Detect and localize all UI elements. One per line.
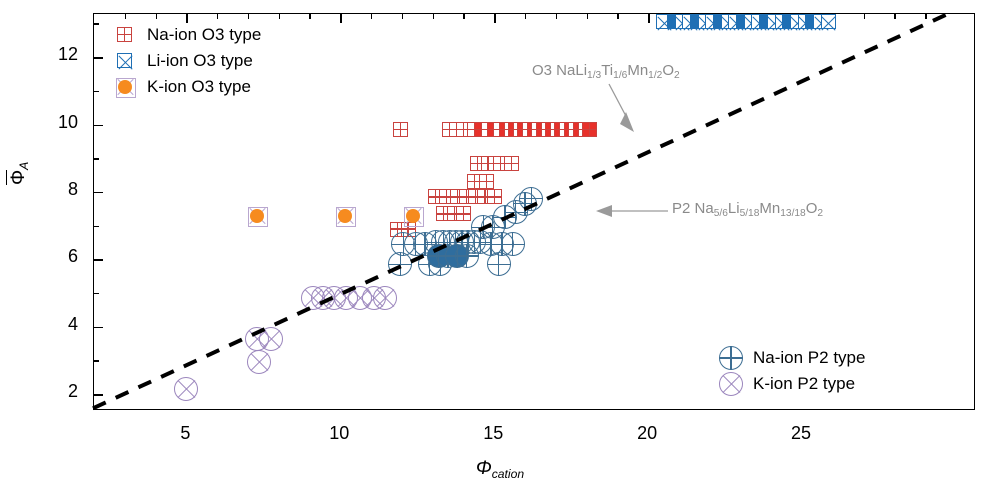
y-tick-minor-11	[94, 91, 99, 92]
data-point	[479, 174, 494, 189]
y-tick-major-6	[94, 259, 103, 261]
legend-label-k-ion-p2: K-ion P2 type	[753, 374, 855, 394]
annotation-p2-compound: P2 Na5/6Li5/18Mn13/18O2	[672, 200, 823, 219]
x-tick-label-10: 10	[314, 423, 364, 444]
y-tick-major-8	[94, 192, 103, 194]
data-point	[487, 189, 502, 204]
data-point	[174, 377, 198, 401]
x-tick-minor-18	[587, 14, 588, 19]
data-point	[456, 206, 471, 221]
x-tick-label-15: 15	[468, 423, 518, 444]
data-point	[582, 122, 597, 137]
x-tick-minor-29	[925, 14, 926, 19]
legend-o3-types: Na-ion O3 type Li-ion O3 type K-ion O3 t…	[112, 22, 261, 100]
legend-item-li-ion-o3[interactable]: Li-ion O3 type	[112, 48, 261, 74]
y-tick-minor-7	[94, 226, 99, 227]
x-tick-minor-9	[309, 14, 310, 19]
legend-item-k-ion-p2[interactable]: K-ion P2 type	[718, 371, 865, 397]
x-axis-title-symbol: Φ	[476, 458, 492, 479]
data-point	[246, 205, 268, 227]
x-tick-minor-14	[463, 14, 464, 19]
data-point	[455, 244, 479, 268]
y-tick-minor-9	[94, 158, 99, 159]
y-tick-minor-3	[94, 360, 99, 361]
x-tick-minor-8	[279, 14, 280, 19]
x-tick-minor-17	[556, 14, 557, 19]
y-tick-major-10	[94, 125, 103, 127]
x-tick-label-5: 5	[160, 423, 210, 444]
legend-item-na-ion-o3[interactable]: Na-ion O3 type	[112, 22, 261, 48]
legend-label-k-ion-o3: K-ion O3 type	[147, 77, 251, 97]
x-tick-minor-4	[156, 14, 157, 19]
x-tick-minor-28	[894, 14, 895, 19]
y-tick-label-8: 8	[38, 179, 78, 200]
x-tick-minor-7	[248, 14, 249, 19]
data-point	[247, 350, 271, 374]
y-tick-label-6: 6	[38, 246, 78, 267]
x-tick-minor-19	[617, 14, 618, 19]
x-tick-major-20	[648, 14, 650, 23]
data-point	[334, 205, 356, 227]
x-axis-title: Φcation	[0, 458, 1000, 481]
x-tick-minor-6	[217, 14, 218, 19]
x-tick-label-20: 20	[622, 423, 672, 444]
x-tick-major-15	[494, 14, 496, 23]
data-point	[373, 286, 397, 310]
figure-root: ΦA Φcation 51015202524681012 Na-ion O3 t…	[0, 0, 1000, 501]
data-point	[519, 187, 543, 211]
circle-x-purple-icon	[718, 371, 744, 397]
circle-plus-steelblue-icon	[718, 345, 744, 371]
square-cross-red-icon	[112, 22, 138, 48]
legend-p2-types: Na-ion P2 type K-ion P2 type	[718, 345, 865, 397]
y-tick-label-12: 12	[38, 44, 78, 65]
x-tick-major-10	[340, 14, 342, 23]
x-tick-minor-12	[402, 14, 403, 19]
y-tick-label-4: 4	[38, 314, 78, 335]
x-tick-minor-27	[864, 14, 865, 19]
legend-label-na-ion-o3: Na-ion O3 type	[147, 25, 261, 45]
data-point	[402, 205, 424, 227]
x-tick-minor-11	[371, 14, 372, 19]
y-tick-label-10: 10	[38, 112, 78, 133]
y-tick-label-2: 2	[38, 381, 78, 402]
x-tick-label-25: 25	[776, 423, 826, 444]
data-point	[487, 252, 511, 276]
legend-item-na-ion-p2[interactable]: Na-ion P2 type	[718, 345, 865, 371]
y-tick-minor-5	[94, 293, 99, 294]
x-axis-title-subscript: cation	[492, 467, 524, 481]
data-point	[393, 122, 408, 137]
x-tick-minor-13	[433, 14, 434, 19]
data-point	[504, 156, 519, 171]
square-x-blue-icon	[112, 48, 138, 74]
legend-label-li-ion-o3: Li-ion O3 type	[147, 51, 253, 71]
y-tick-major-4	[94, 327, 103, 329]
y-tick-minor-13	[94, 23, 99, 24]
y-tick-major-2	[94, 394, 103, 396]
annotation-o3-compound: O3 NaLi1/3Ti1/6Mn1/2O2	[532, 62, 680, 81]
y-tick-major-12	[94, 57, 103, 59]
data-point	[388, 252, 412, 276]
data-point	[259, 327, 283, 351]
x-tick-minor-16	[525, 14, 526, 19]
x-tick-minor-3	[125, 14, 126, 19]
y-axis-title-subscript: A	[17, 162, 31, 170]
y-axis-title: ΦA	[8, 162, 31, 185]
circle-filled-orange-icon	[112, 74, 138, 100]
data-point	[442, 122, 457, 137]
y-axis-title-symbol: Φ	[6, 170, 29, 185]
data-point	[821, 14, 836, 29]
legend-item-k-ion-o3[interactable]: K-ion O3 type	[112, 74, 261, 100]
legend-label-na-ion-p2: Na-ion P2 type	[753, 348, 865, 368]
